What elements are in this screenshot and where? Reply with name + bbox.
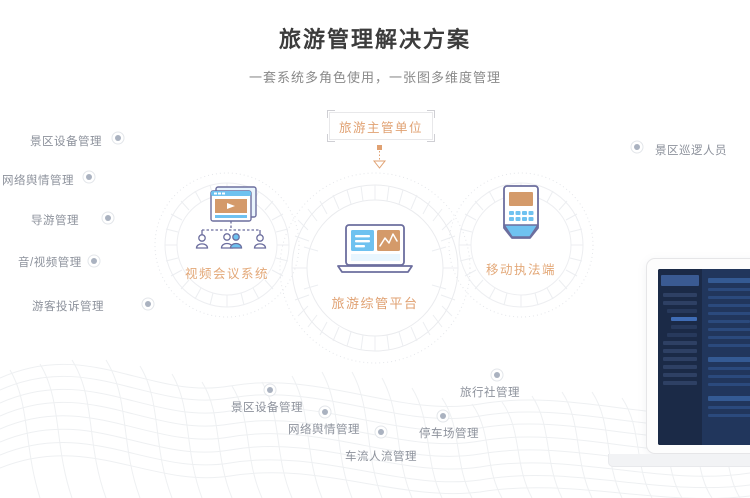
node-mobile-enforcement[interactable]: 移动执法端 bbox=[456, 182, 586, 278]
bottom-label-2[interactable]: 网络舆情管理 bbox=[288, 421, 360, 437]
poster-canvas: 旅游管理解决方案 一套系统多角色使用，一张图多维度管理 bbox=[0, 0, 750, 498]
left-connector-dots bbox=[83, 132, 154, 310]
dashboard-sidebar bbox=[658, 269, 702, 445]
tourism-dashboard-laptop-mockup bbox=[646, 258, 750, 454]
bottom-label-1[interactable]: 景区设备管理 bbox=[231, 399, 303, 415]
dashboard-screen bbox=[658, 269, 750, 445]
badge-corner-tl bbox=[327, 110, 335, 118]
badge-label: 旅游主管单位 bbox=[339, 117, 423, 136]
left-label-5[interactable]: 游客投诉管理 bbox=[32, 298, 104, 314]
video-conference-icon bbox=[180, 182, 274, 252]
right-label-1[interactable]: 景区巡逻人员 bbox=[655, 142, 727, 158]
left-label-2[interactable]: 网络舆情管理 bbox=[2, 172, 74, 188]
dashboard-logo bbox=[661, 275, 699, 286]
node-tourism-platform[interactable]: 旅游综管平台 bbox=[310, 222, 440, 312]
node-label-mobile-enforcement: 移动执法端 bbox=[456, 259, 586, 278]
handheld-terminal-icon bbox=[493, 182, 549, 248]
bottom-label-5[interactable]: 旅行社管理 bbox=[460, 384, 520, 400]
right-connector-lines bbox=[570, 141, 643, 153]
node-label-video-conference: 视频会议系统 bbox=[162, 263, 292, 282]
bottom-label-4[interactable]: 停车场管理 bbox=[419, 425, 479, 441]
dashboard-content bbox=[702, 269, 750, 445]
node-label-tourism-platform: 旅游综管平台 bbox=[310, 293, 440, 312]
badge-corner-br bbox=[427, 134, 435, 142]
bottom-connector-lines bbox=[264, 310, 503, 438]
laptop-dashboard-icon bbox=[332, 222, 418, 282]
laptop-base bbox=[608, 454, 750, 467]
badge-corner-bl bbox=[327, 134, 335, 142]
left-label-1[interactable]: 景区设备管理 bbox=[30, 133, 102, 149]
authority-badge[interactable]: 旅游主管单位 bbox=[329, 112, 433, 140]
node-video-conference[interactable]: 视频会议系统 bbox=[162, 182, 292, 282]
laptop-bezel bbox=[646, 258, 750, 454]
badge-corner-tr bbox=[427, 110, 435, 118]
bottom-label-3[interactable]: 车流人流管理 bbox=[345, 448, 417, 464]
left-label-3[interactable]: 导游管理 bbox=[31, 212, 79, 228]
badge-arrow-connector bbox=[374, 145, 385, 168]
left-label-4[interactable]: 音/视频管理 bbox=[18, 254, 82, 270]
